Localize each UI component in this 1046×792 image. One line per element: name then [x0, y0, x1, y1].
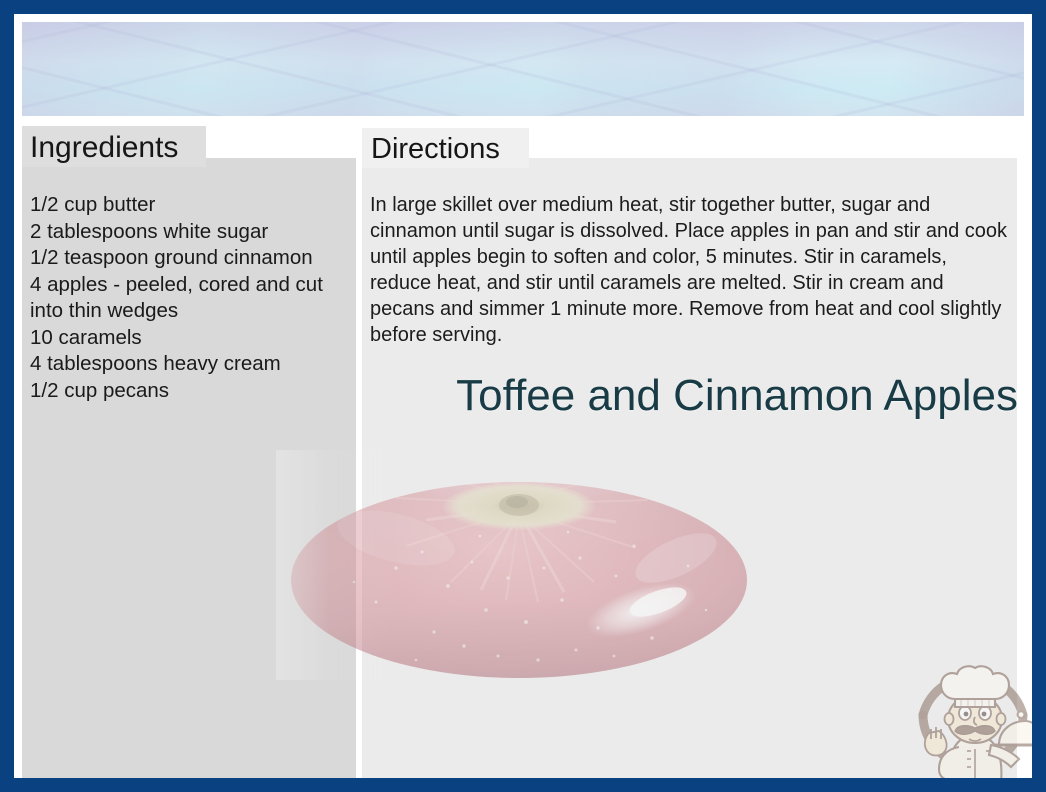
ingredients-heading: Ingredients	[30, 131, 178, 165]
ingredients-list: 1/2 cup butter 2 tablespoons white sugar…	[30, 192, 352, 404]
list-item: 4 tablespoons heavy cream	[30, 351, 352, 378]
list-item: 2 tablespoons white sugar	[30, 219, 352, 246]
slide-canvas: Toffee and Cinnamon Apples Ingredients 1…	[14, 14, 1032, 778]
list-item: 1/2 cup pecans	[30, 378, 352, 405]
list-item: 1/2 cup butter	[30, 192, 352, 219]
list-item: 10 caramels	[30, 325, 352, 352]
list-item: 4 apples - peeled, cored and cut into th…	[30, 272, 352, 325]
directions-heading: Directions	[371, 133, 500, 166]
directions-body-text: In large skillet over medium heat, stir …	[370, 192, 1010, 348]
recipe-slide: Toffee and Cinnamon Apples Ingredients 1…	[0, 0, 1046, 792]
page-title: Toffee and Cinnamon Apples	[456, 371, 1018, 421]
slide-header-banner	[22, 22, 1024, 116]
list-item: 1/2 teaspoon ground cinnamon	[30, 245, 352, 272]
